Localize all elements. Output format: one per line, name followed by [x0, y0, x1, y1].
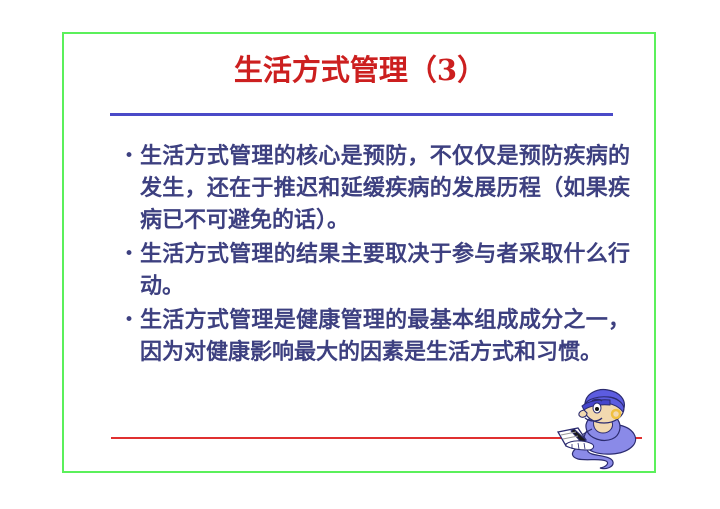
page-title: 生活方式管理（3）	[62, 52, 658, 88]
bullet-list: • 生活方式管理的核心是预防，不仅仅是预防疾病的发生，还在于推迟和延缓疾病的发展…	[118, 140, 630, 370]
list-item: • 生活方式管理是健康管理的最基本组成成分之一，因为对健康影响最大的因素是生活方…	[118, 304, 630, 368]
list-item-text: 生活方式管理是健康管理的最基本组成成分之一，因为对健康影响最大的因素是生活方式和…	[140, 304, 630, 368]
genie-reading-book-icon	[552, 388, 648, 470]
list-item: • 生活方式管理的结果主要取决于参与者采取什么行动。	[118, 238, 630, 302]
bullet-dot-icon: •	[118, 140, 140, 172]
list-item: • 生活方式管理的核心是预防，不仅仅是预防疾病的发生，还在于推迟和延缓疾病的发展…	[118, 140, 630, 236]
bullet-dot-icon: •	[118, 304, 140, 336]
bullet-dot-icon: •	[118, 238, 140, 270]
list-item-text: 生活方式管理的核心是预防，不仅仅是预防疾病的发生，还在于推迟和延缓疾病的发展历程…	[140, 140, 630, 236]
title-divider	[110, 113, 613, 116]
list-item-text: 生活方式管理的结果主要取决于参与者采取什么行动。	[140, 238, 630, 302]
presentation-slide: 生活方式管理（3） • 生活方式管理的核心是预防，不仅仅是预防疾病的发生，还在于…	[0, 0, 720, 509]
